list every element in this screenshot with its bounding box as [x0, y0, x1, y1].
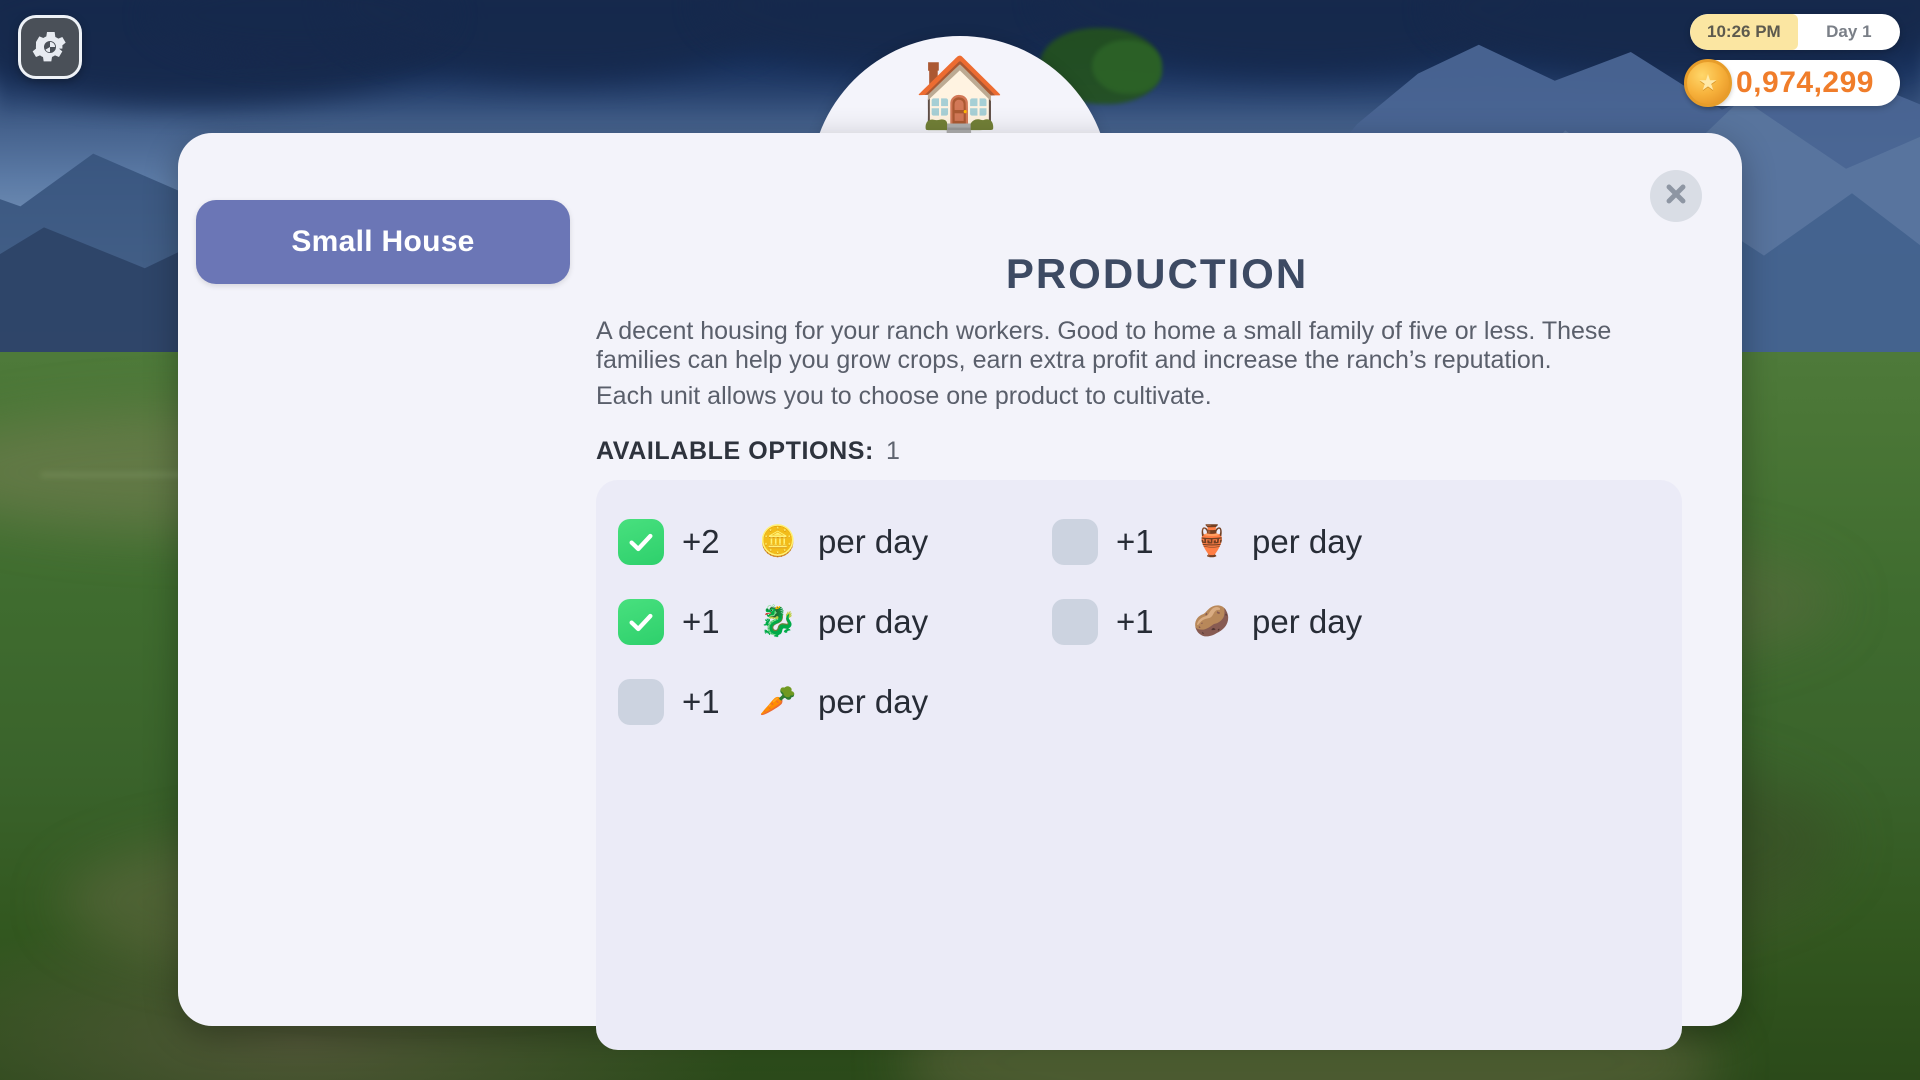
tab-label: Small House: [291, 225, 474, 259]
coin-balance-bar: ★ 0,974,299: [1688, 60, 1900, 106]
option-amount: +1: [682, 683, 738, 721]
description-body: A decent housing for your ranch workers.…: [596, 317, 1651, 374]
option-amount: +1: [1116, 603, 1172, 641]
description-tail: Each unit allows you to choose one produ…: [596, 382, 1651, 411]
gear-icon: [30, 27, 70, 67]
option-suffix: per day: [818, 603, 928, 641]
day-time-bar: 10:26 PM Day 1: [1690, 14, 1900, 50]
option-checkbox[interactable]: [618, 679, 664, 725]
page-title: PRODUCTION: [596, 253, 1718, 295]
shrub: [1092, 40, 1162, 94]
production-dialog: Small House PRODUCTION A decent housing …: [178, 133, 1742, 1026]
option-amount: +1: [682, 603, 738, 641]
option-amount: +2: [682, 523, 738, 561]
coin-icon: ★: [1684, 59, 1732, 107]
option-checkbox[interactable]: [1052, 519, 1098, 565]
tab-small-house[interactable]: Small House: [196, 200, 570, 284]
building-tab-list: Small House: [196, 200, 576, 284]
production-option[interactable]: +2🪙per day: [618, 502, 1052, 582]
production-option[interactable]: +1🥔per day: [1052, 582, 1486, 662]
option-checkbox[interactable]: [1052, 599, 1098, 645]
hud: 10:26 PM Day 1 ★ 0,974,299: [1688, 14, 1900, 106]
option-checkbox[interactable]: [618, 599, 664, 645]
coin-amount: 0,974,299: [1736, 68, 1874, 98]
option-suffix: per day: [1252, 523, 1362, 561]
potato-emoji: 🥔: [1190, 607, 1234, 637]
carrot-emoji: 🥕: [756, 687, 800, 717]
production-option[interactable]: +1🥕per day: [618, 662, 1052, 742]
day-counter: Day 1: [1798, 14, 1900, 50]
option-amount: +1: [1116, 523, 1172, 561]
settings-button[interactable]: [18, 15, 82, 79]
option-checkbox[interactable]: [618, 519, 664, 565]
amphora-emoji: 🏺: [1190, 527, 1234, 557]
dragonfruit-emoji: 🐉: [756, 607, 800, 637]
available-options-count: 1: [886, 437, 901, 466]
available-options-header: AVAILABLE OPTIONS: 1: [596, 437, 1718, 466]
option-suffix: per day: [818, 523, 928, 561]
close-button[interactable]: [1650, 170, 1702, 222]
production-options-list: +2🪙per day+1🏺per day+1🐉per day+1🥔per day…: [596, 480, 1682, 1050]
production-option[interactable]: +1🏺per day: [1052, 502, 1486, 582]
production-option[interactable]: +1🐉per day: [618, 582, 1052, 662]
close-icon: [1662, 180, 1690, 213]
house-emoji: 🏠: [914, 58, 1006, 132]
available-options-label: AVAILABLE OPTIONS:: [596, 437, 874, 466]
clock-time: 10:26 PM: [1690, 14, 1798, 50]
building-description: A decent housing for your ranch workers.…: [596, 317, 1651, 411]
option-suffix: per day: [818, 683, 928, 721]
option-suffix: per day: [1252, 603, 1362, 641]
coin-emoji: 🪙: [756, 527, 800, 557]
production-content: PRODUCTION A decent housing for your ran…: [596, 153, 1718, 1002]
